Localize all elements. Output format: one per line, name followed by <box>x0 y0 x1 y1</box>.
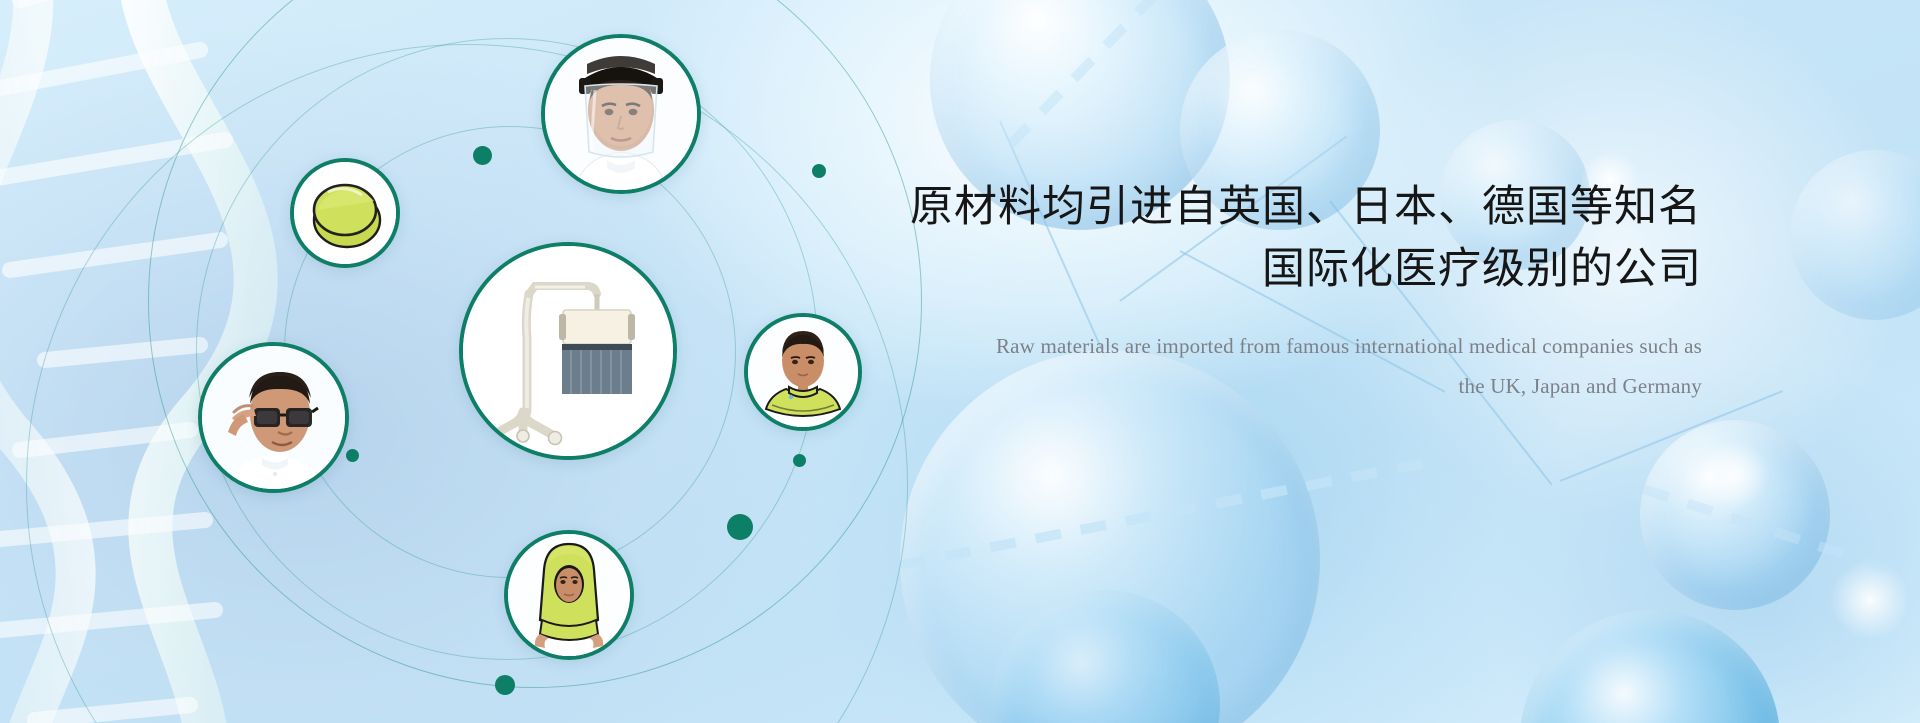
molecule-sphere <box>1640 420 1830 610</box>
orbit-node-dot <box>793 454 806 467</box>
dashed-arc <box>899 457 1431 570</box>
lead-protective-cap-photo <box>294 162 396 264</box>
subtitle-line-1: Raw materials are imported from famous i… <box>996 334 1702 358</box>
hero-banner: 原材料均引进自英国、日本、德国等知名 国际化医疗级别的公司 Raw materi… <box>0 0 1920 723</box>
molecule-sphere <box>1520 610 1780 723</box>
headline-line-1: 原材料均引进自英国、日本、德国等知名 <box>910 183 1702 231</box>
light-glow <box>1700 440 1770 510</box>
light-glow <box>1830 560 1910 640</box>
woman-wearing-lead-hood-photo <box>508 534 630 656</box>
molecule-sphere <box>990 590 1220 723</box>
orbit-node-dot <box>495 675 515 695</box>
headline-line-2: 国际化医疗级别的公司 <box>882 238 1702 300</box>
woman-wearing-thyroid-collar-photo <box>748 317 858 427</box>
orbit-node-dot <box>812 164 826 178</box>
orbit-node-dot <box>346 449 359 462</box>
mobile-lead-x-ray-barrier-photo <box>463 246 673 456</box>
node-face-shield[interactable] <box>541 34 701 194</box>
node-lead-cap[interactable] <box>290 158 400 268</box>
headline: 原材料均引进自英国、日本、德国等知名 国际化医疗级别的公司 <box>882 176 1702 300</box>
node-mobile-lead-barrier[interactable] <box>459 242 677 460</box>
node-lead-hood[interactable] <box>504 530 634 660</box>
node-thyroid-collar[interactable] <box>744 313 862 431</box>
man-wearing-lead-glasses-photo <box>202 346 345 489</box>
orbit-node-dot <box>473 146 492 165</box>
headline-block: 原材料均引进自英国、日本、德国等知名 国际化医疗级别的公司 Raw materi… <box>882 176 1702 406</box>
man-wearing-face-shield-photo <box>545 38 697 190</box>
subtitle-line-2: the UK, Japan and Germany <box>882 366 1702 406</box>
orbit-node-dot <box>727 514 753 540</box>
subtitle: Raw materials are imported from famous i… <box>882 326 1702 406</box>
node-lead-glasses[interactable] <box>198 342 349 493</box>
molecule-sphere <box>1790 150 1920 320</box>
dashed-arc <box>1598 470 1915 581</box>
dashed-arc <box>1006 0 1305 148</box>
